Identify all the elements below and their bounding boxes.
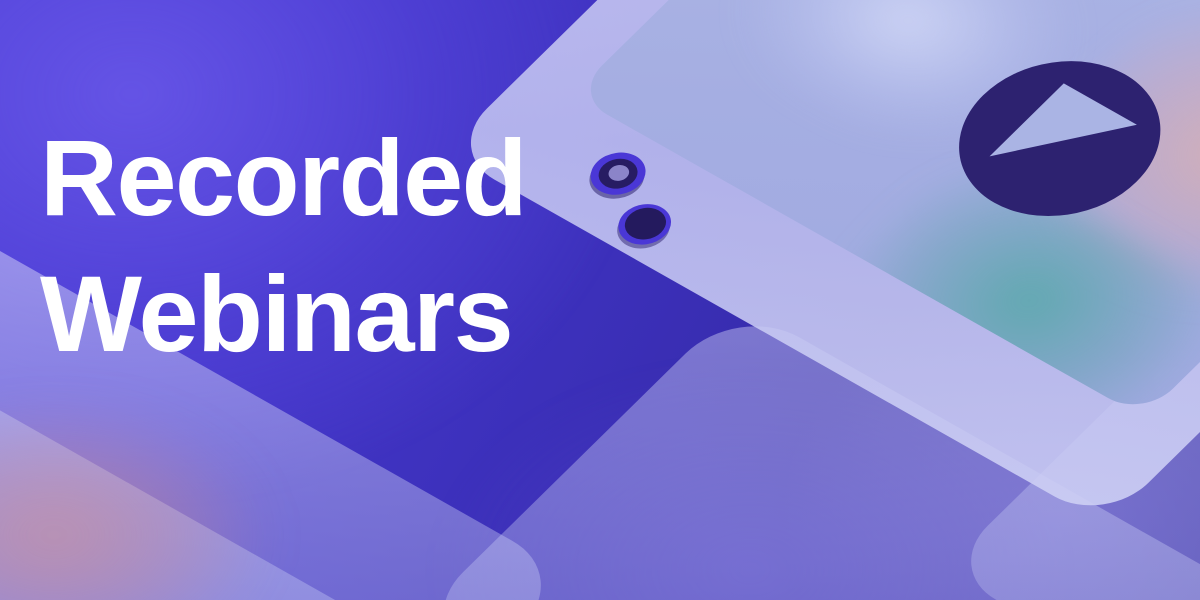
page-title-line-1: Recorded xyxy=(40,110,660,246)
decorative-slab-left-warm-glow xyxy=(0,400,270,600)
recorded-webinars-banner: Recorded Webinars xyxy=(0,0,1200,600)
page-title: Recorded Webinars xyxy=(40,110,660,382)
monitor-screen xyxy=(572,0,1200,418)
page-title-line-2: Webinars xyxy=(40,246,660,382)
